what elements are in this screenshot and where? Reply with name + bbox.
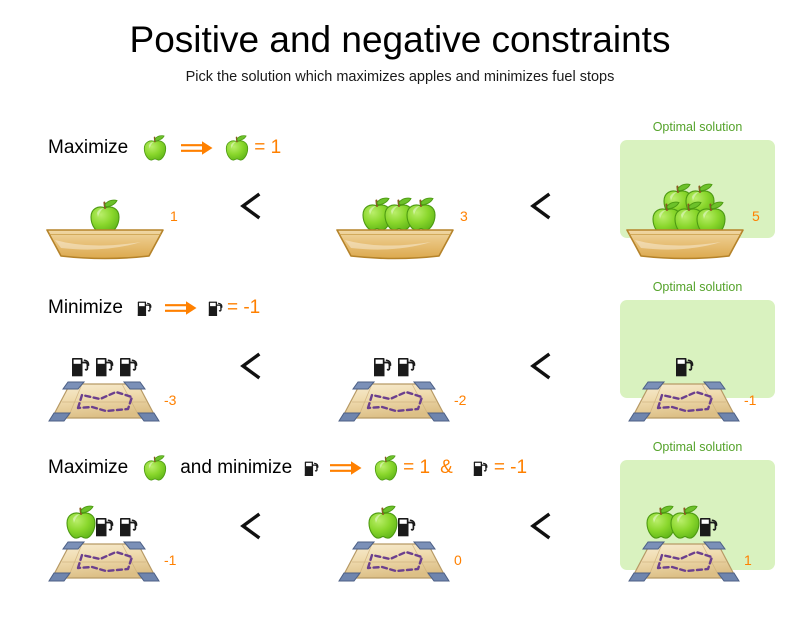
fruit-bowl-icon bbox=[335, 226, 455, 262]
comparison-sign-1 bbox=[235, 346, 265, 386]
page-title: Positive and negative constraints bbox=[0, 20, 800, 61]
route-map-icon bbox=[48, 378, 160, 426]
fruit-bowl-icon bbox=[45, 226, 165, 262]
solution-value: 1 bbox=[744, 552, 752, 568]
solution-cell[interactable]: 5 bbox=[620, 168, 800, 278]
solution-cell[interactable]: 0 bbox=[330, 488, 510, 598]
route-map-icon bbox=[48, 538, 160, 586]
constraint-row-minimize-fuel-stops: Minimize= -1Optimal solution-3-2-1 bbox=[0, 288, 800, 438]
optimal-solution-label: Optimal solution bbox=[620, 440, 775, 454]
solution-cell[interactable]: 1 bbox=[620, 488, 800, 598]
fuel-pump-icon bbox=[675, 356, 694, 377]
pump-icon bbox=[304, 460, 319, 477]
solution-cell[interactable]: 3 bbox=[330, 168, 510, 278]
fuel-pump-icon bbox=[71, 356, 90, 377]
apple-icon bbox=[366, 504, 400, 540]
solution-scene: 3 bbox=[330, 168, 510, 278]
apple-icon bbox=[142, 134, 168, 162]
fuel-pump-icon bbox=[373, 356, 392, 377]
comparison-sign-2 bbox=[525, 346, 555, 386]
pump-icon bbox=[208, 300, 223, 317]
apple-icon bbox=[373, 454, 399, 482]
solution-value: -1 bbox=[744, 392, 756, 408]
row-header-maximize-apples-minimize-fuel: Maximizeand minimize= 1&= -1 bbox=[48, 448, 527, 488]
row-header-lead: Maximize bbox=[48, 457, 128, 479]
apple-icon bbox=[142, 454, 168, 482]
solution-scene: -2 bbox=[330, 328, 510, 438]
solution-scene: 1 bbox=[40, 168, 220, 278]
solution-scene: 1 bbox=[620, 488, 800, 598]
solution-value: -1 bbox=[164, 552, 176, 568]
comparison-sign-2 bbox=[525, 506, 555, 546]
solution-value: -3 bbox=[164, 392, 176, 408]
solution-cell[interactable]: -1 bbox=[620, 328, 800, 438]
solution-scene: 0 bbox=[330, 488, 510, 598]
route-map-icon bbox=[338, 538, 450, 586]
pump-icon bbox=[473, 460, 488, 477]
row-header-lead: Maximize bbox=[48, 137, 128, 159]
fuel-pump-icon bbox=[699, 516, 718, 537]
row-header-equals: = 1 bbox=[254, 137, 281, 159]
optimal-solution-label: Optimal solution bbox=[620, 120, 775, 134]
row-header-equals: = 1 bbox=[403, 457, 430, 479]
fuel-pump-icon bbox=[119, 356, 138, 377]
apple-icon bbox=[668, 504, 702, 540]
solution-value: -2 bbox=[454, 392, 466, 408]
route-map-icon bbox=[628, 378, 740, 426]
solution-value: 1 bbox=[170, 208, 178, 224]
pump-icon bbox=[137, 300, 152, 317]
fuel-pump-icon bbox=[119, 516, 138, 537]
fruit-bowl-icon bbox=[625, 226, 745, 262]
row-header-mid: and minimize bbox=[180, 457, 292, 479]
comparison-sign-1 bbox=[235, 186, 265, 226]
row-header-equals: = -1 bbox=[227, 297, 260, 319]
optimal-solution-label: Optimal solution bbox=[620, 280, 775, 294]
double-arrow-right-icon bbox=[329, 459, 363, 477]
row-header-minimize-fuel-stops: Minimize= -1 bbox=[48, 288, 260, 328]
route-map-icon bbox=[628, 538, 740, 586]
solution-value: 3 bbox=[460, 208, 468, 224]
apple-icon bbox=[224, 134, 250, 162]
fuel-pump-icon bbox=[95, 516, 114, 537]
row-header-lead: Minimize bbox=[48, 297, 123, 319]
solution-value: 0 bbox=[454, 552, 462, 568]
solution-scene: -1 bbox=[620, 328, 800, 438]
solution-cell[interactable]: -2 bbox=[330, 328, 510, 438]
solution-cell[interactable]: 1 bbox=[40, 168, 220, 278]
route-map-icon bbox=[338, 378, 450, 426]
fuel-pump-icon bbox=[397, 516, 416, 537]
row-header-maximize-apples: Maximize= 1 bbox=[48, 128, 281, 168]
page-subtitle: Pick the solution which maximizes apples… bbox=[0, 69, 800, 85]
solution-scene: -1 bbox=[40, 488, 220, 598]
constraint-row-maximize-apples-minimize-fuel: Maximizeand minimize= 1&= -1Optimal solu… bbox=[0, 448, 800, 598]
solution-value: 5 bbox=[752, 208, 760, 224]
solution-cell[interactable]: -1 bbox=[40, 488, 220, 598]
row-header-ampersand: & bbox=[440, 457, 453, 479]
double-arrow-right-icon bbox=[180, 139, 214, 157]
fuel-pump-icon bbox=[95, 356, 114, 377]
solution-scene: 5 bbox=[620, 168, 800, 278]
solution-scene: -3 bbox=[40, 328, 220, 438]
fuel-pump-icon bbox=[397, 356, 416, 377]
row-header-equals-2: = -1 bbox=[494, 457, 527, 479]
double-arrow-right-icon bbox=[164, 299, 198, 317]
constraint-row-maximize-apples: Maximize= 1Optimal solution135 bbox=[0, 128, 800, 278]
apple-icon bbox=[64, 504, 98, 540]
comparison-sign-2 bbox=[525, 186, 555, 226]
comparison-sign-1 bbox=[235, 506, 265, 546]
solution-cell[interactable]: -3 bbox=[40, 328, 220, 438]
